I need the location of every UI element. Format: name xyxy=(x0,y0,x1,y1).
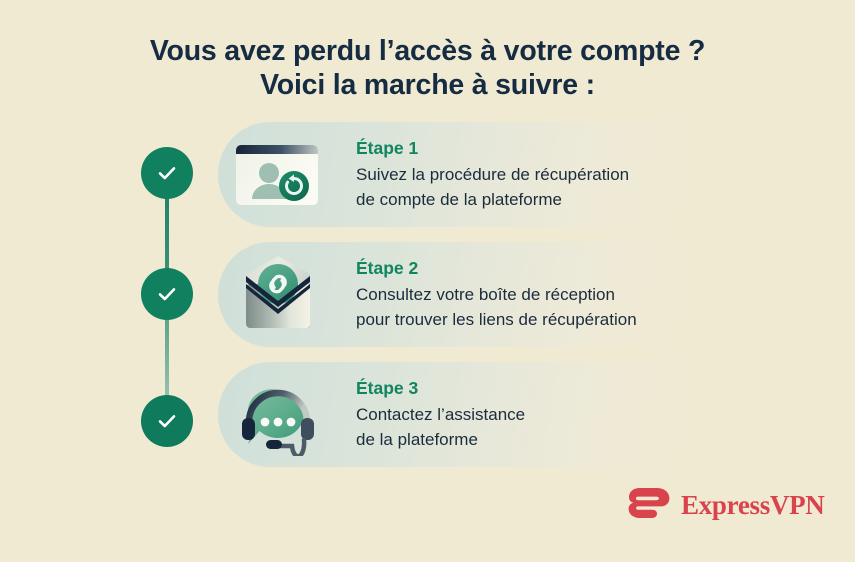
step-2-check-node xyxy=(141,268,193,320)
page-title-line-2: Voici la marche à suivre : xyxy=(0,68,855,102)
step-1-label: Étape 1 xyxy=(356,137,629,159)
timeline xyxy=(141,147,193,447)
step-3-text: Étape 3 Contactez l’assistance de la pla… xyxy=(338,377,539,452)
page-title: Vous avez perdu l’accès à votre compte ?… xyxy=(0,34,855,102)
step-3-desc-line-2: de la plateforme xyxy=(356,427,525,452)
step-1-check-node xyxy=(141,147,193,199)
step-1-desc-line-2: de compte de la plateforme xyxy=(356,187,629,212)
expressvpn-logo: ExpressVPN xyxy=(628,486,825,525)
check-icon xyxy=(154,281,180,307)
step-3-desc-line-1: Contactez l’assistance xyxy=(356,402,525,427)
step-2-desc-line-1: Consultez votre boîte de réception xyxy=(356,282,637,307)
step-card-3: Étape 3 Contactez l’assistance de la pla… xyxy=(218,362,718,467)
account-recovery-window-icon xyxy=(218,122,338,227)
step-1-desc-line-1: Suivez la procédure de récupération xyxy=(356,162,629,187)
step-2-text: Étape 2 Consultez votre boîte de récepti… xyxy=(338,257,651,332)
page-title-line-1: Vous avez perdu l’accès à votre compte ? xyxy=(0,34,855,68)
expressvpn-wordmark: ExpressVPN xyxy=(681,492,825,519)
step-2-desc-line-2: pour trouver les liens de récupération xyxy=(356,307,637,332)
step-3-label: Étape 3 xyxy=(356,377,525,399)
step-card-2: Étape 2 Consultez votre boîte de récepti… xyxy=(218,242,718,347)
step-card-1: Étape 1 Suivez la procédure de récupérat… xyxy=(218,122,718,227)
step-2-label: Étape 2 xyxy=(356,257,637,279)
check-icon xyxy=(154,408,180,434)
expressvpn-e-mark-icon xyxy=(628,486,670,525)
step-1-text: Étape 1 Suivez la procédure de récupérat… xyxy=(338,137,643,212)
check-icon xyxy=(154,160,180,186)
headset-chat-support-icon xyxy=(218,362,338,467)
step-3-check-node xyxy=(141,395,193,447)
open-envelope-link-icon xyxy=(218,242,338,347)
